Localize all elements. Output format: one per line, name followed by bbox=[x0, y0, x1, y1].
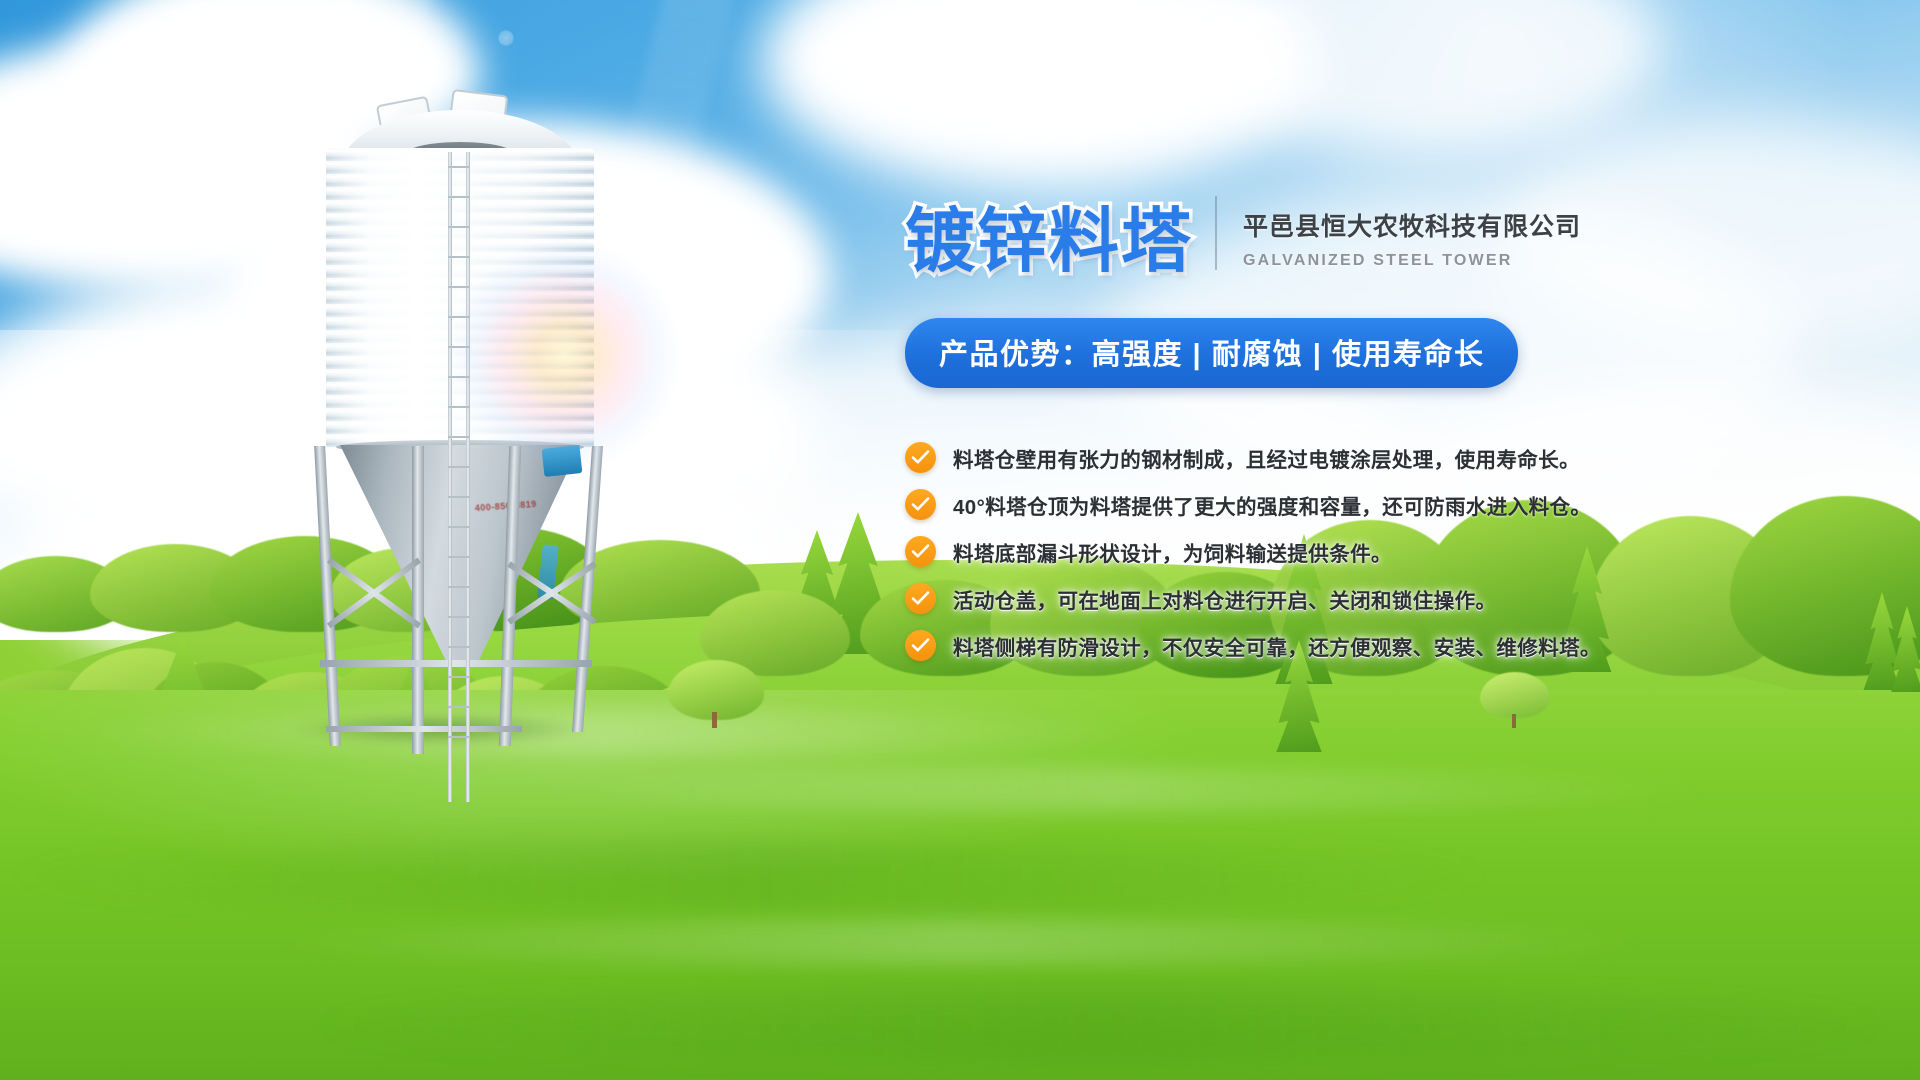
horizontal-brace bbox=[326, 726, 522, 732]
side-ladder bbox=[448, 152, 470, 802]
title-row: 镀锌料塔 平邑县恒大农牧科技有限公司 GALVANIZED STEEL TOWE… bbox=[905, 196, 1885, 276]
list-item-label: 40°料塔仓顶为料塔提供了更大的强度和容量，还可防雨水进入料仓。 bbox=[953, 490, 1591, 520]
support-leg bbox=[412, 446, 424, 754]
list-item: 活动仓盖，可在地面上对料仓进行开启、关闭和锁住操作。 bbox=[905, 575, 1885, 622]
conifer-tree bbox=[1888, 606, 1920, 692]
list-item: 40°料塔仓顶为料塔提供了更大的强度和容量，还可防雨水进入料仓。 bbox=[905, 481, 1885, 528]
list-item: 料塔仓壁用有张力的钢材制成，且经过电镀涂层处理，使用寿命长。 bbox=[905, 434, 1885, 481]
list-item-label: 料塔仓壁用有张力的钢材制成，且经过电镀涂层处理，使用寿命长。 bbox=[953, 443, 1580, 473]
brand-block: 平邑县恒大农牧科技有限公司 GALVANIZED STEEL TOWER bbox=[1243, 207, 1581, 276]
grass-lawn bbox=[0, 690, 1920, 1080]
check-circle-icon bbox=[905, 536, 936, 567]
check-circle-icon bbox=[905, 630, 936, 661]
list-item-label: 料塔底部漏斗形状设计，为饲料输送提供条件。 bbox=[953, 537, 1392, 567]
support-leg bbox=[314, 446, 341, 746]
support-leg bbox=[572, 446, 603, 732]
silo-marking-phone: 400-850-8819 bbox=[474, 499, 537, 513]
list-item-label: 料塔侧梯有防滑设计，不仅安全可靠，还方便观察、安装、维修料塔。 bbox=[953, 631, 1601, 661]
hero-banner: 400-850-8819 bbox=[0, 0, 1920, 1080]
list-item: 料塔侧梯有防滑设计，不仅安全可靠，还方便观察、安装、维修料塔。 bbox=[905, 622, 1885, 669]
title-divider bbox=[1215, 196, 1217, 270]
check-circle-icon bbox=[905, 442, 936, 473]
galvanized-silo-image: 400-850-8819 bbox=[300, 90, 620, 750]
advantages-badge: 产品优势：高强度 | 耐腐蚀 | 使用寿命长 bbox=[905, 318, 1518, 388]
hero-text-panel: 镀锌料塔 平邑县恒大农牧科技有限公司 GALVANIZED STEEL TOWE… bbox=[905, 196, 1885, 669]
lens-flare-speck bbox=[498, 30, 514, 46]
check-circle-icon bbox=[905, 489, 936, 520]
product-subtitle-en: GALVANIZED STEEL TOWER bbox=[1243, 252, 1581, 270]
feed-chute-blue bbox=[542, 445, 583, 477]
list-item: 料塔底部漏斗形状设计，为饲料输送提供条件。 bbox=[905, 528, 1885, 575]
list-item-label: 活动仓盖，可在地面上对料仓进行开启、关闭和锁住操作。 bbox=[953, 584, 1496, 614]
check-circle-icon bbox=[905, 583, 936, 614]
company-name: 平邑县恒大农牧科技有限公司 bbox=[1243, 207, 1581, 243]
feature-list: 料塔仓壁用有张力的钢材制成，且经过电镀涂层处理，使用寿命长。 40°料塔仓顶为料… bbox=[905, 434, 1885, 669]
page-title: 镀锌料塔 bbox=[905, 206, 1193, 276]
